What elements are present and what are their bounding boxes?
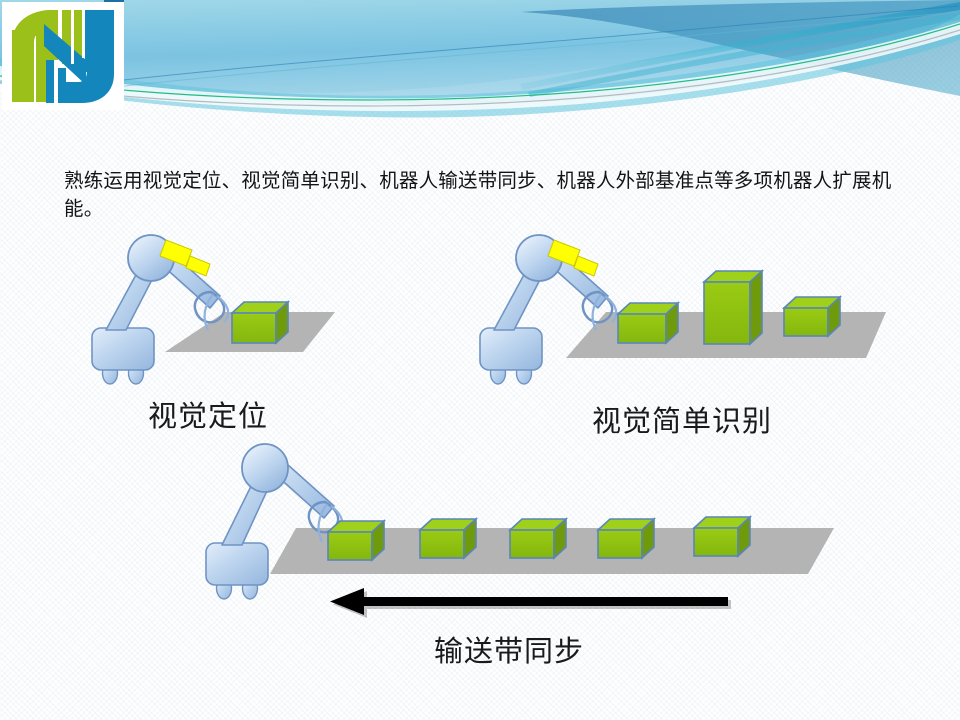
- work-piece-box: [328, 521, 384, 560]
- nj-monogram-logo: [2, 2, 124, 110]
- caption-conveyor-synchronization: 输送带同步: [434, 628, 584, 670]
- slide-body-text: 熟练运用视觉定位、视觉简单识别、机器人输送带同步、机器人外部基准点等多项机器人扩…: [64, 168, 924, 225]
- work-piece-box: [784, 297, 840, 336]
- robot-vision-recognition-illustration: [466, 230, 896, 390]
- work-piece-box: [420, 519, 476, 558]
- work-piece-box: [618, 303, 678, 343]
- caption-vision-positioning: 视觉定位: [148, 393, 268, 435]
- conveyor-direction-arrow: [330, 585, 738, 625]
- robot-vision-positioning-illustration: [80, 230, 380, 390]
- decorative-wave-banner: [0, 0, 960, 118]
- work-piece-box: [598, 519, 654, 558]
- work-piece-box: [232, 302, 288, 343]
- work-piece-box: [510, 519, 566, 558]
- robot-conveyor-sync-illustration: [196, 440, 836, 600]
- slide-canvas: 熟练运用视觉定位、视觉简单识别、机器人输送带同步、机器人外部基准点等多项机器人扩…: [0, 0, 960, 720]
- caption-vision-simple-recognition: 视觉简单识别: [592, 398, 772, 440]
- work-piece-box: [704, 271, 762, 344]
- work-piece-box: [694, 517, 750, 556]
